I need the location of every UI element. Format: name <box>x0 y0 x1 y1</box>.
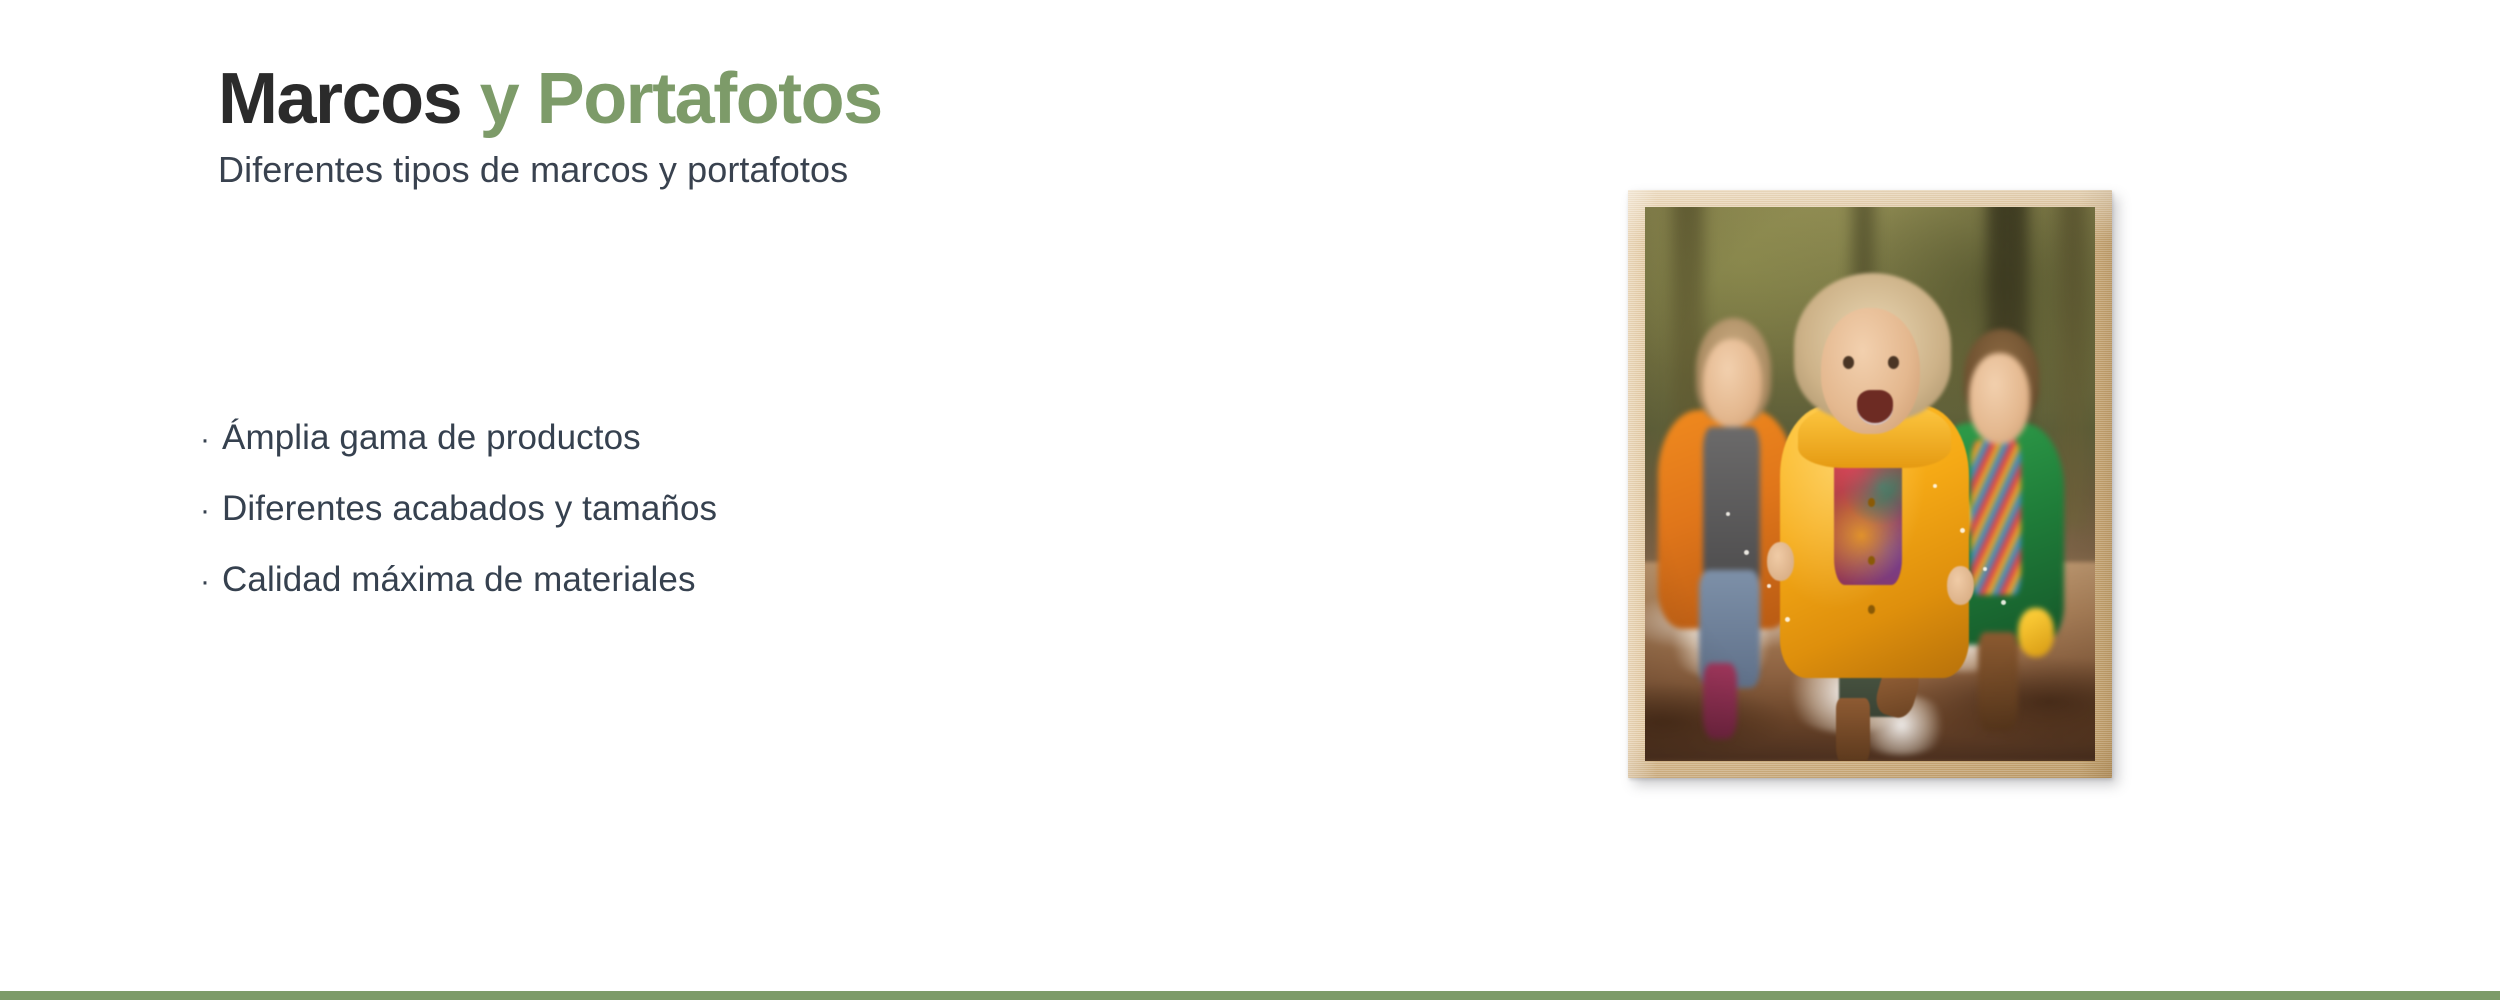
frame-mat-opening <box>1645 207 2095 761</box>
page-title-dark-part: Marcos <box>218 59 461 139</box>
bottom-accent-bar <box>0 991 2500 1000</box>
child-left-boot <box>1703 663 1737 739</box>
water-droplet <box>1785 617 1790 622</box>
water-droplet <box>1983 567 1987 571</box>
framed-photo <box>1628 190 2112 778</box>
bullet-dot-icon: · <box>200 567 222 597</box>
list-item-label: Ámplia gama de productos <box>222 420 641 455</box>
text-column: Marcos y Portafotos Diferentes tipos de … <box>218 62 1468 190</box>
bullet-dot-icon: · <box>200 496 222 526</box>
water-droplet <box>1726 512 1730 516</box>
water-droplet <box>1767 584 1771 588</box>
bullet-dot-icon: · <box>200 425 222 455</box>
list-item: · Diferentes acabados y tamaños <box>200 491 717 526</box>
list-item: · Ámplia gama de productos <box>200 420 717 455</box>
water-droplet <box>2001 600 2006 605</box>
photo-children-in-puddles <box>1645 207 2095 761</box>
page-subtitle: Diferentes tipos de marcos y portafotos <box>218 149 1468 190</box>
page-title-green-part: y Portafotos <box>480 59 882 139</box>
list-item-label: Calidad máxima de materiales <box>222 562 696 597</box>
child-left-face <box>1703 339 1762 427</box>
child-center-hand-right <box>1947 566 1974 605</box>
feature-bullet-list: · Ámplia gama de productos · Diferentes … <box>200 420 717 597</box>
child-left-grey-shirt <box>1703 427 1760 587</box>
child-center-hand-left <box>1767 542 1794 581</box>
child-center <box>1762 273 1987 761</box>
child-right-yellow-accent <box>2018 608 2054 657</box>
page-title-space <box>461 59 480 139</box>
child-center-mouth <box>1857 390 1893 424</box>
slide-canvas: Marcos y Portafotos Diferentes tipos de … <box>0 0 2500 1000</box>
water-droplet <box>1933 484 1937 488</box>
page-title: Marcos y Portafotos <box>218 62 1468 137</box>
list-item: · Calidad máxima de materiales <box>200 562 717 597</box>
list-item-label: Diferentes acabados y tamaños <box>222 491 717 526</box>
child-center-boot-left <box>1836 698 1870 761</box>
